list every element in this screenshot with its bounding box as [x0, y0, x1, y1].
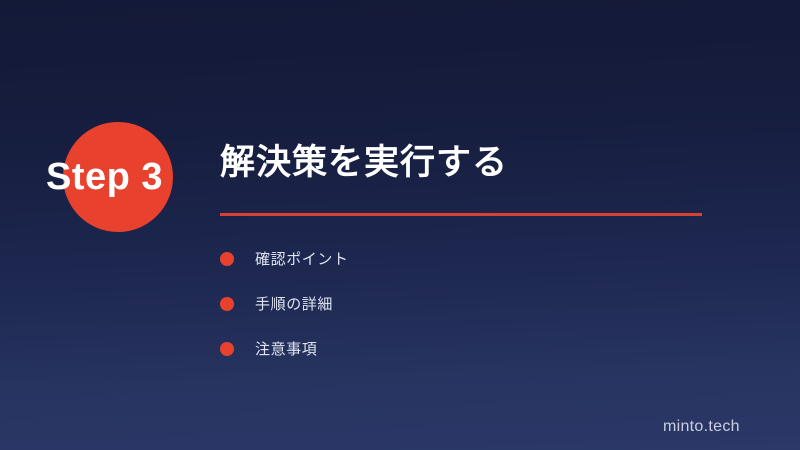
bullet-label: 手順の詳細 [255, 293, 333, 314]
title-divider [220, 213, 702, 216]
slide-title: 解決策を実行する [220, 140, 760, 186]
list-item: 注意事項 [220, 326, 760, 371]
list-item: 確認ポイント [220, 236, 760, 281]
step-badge-label: Step 3 [46, 152, 206, 202]
bullet-label: 注意事項 [255, 338, 317, 359]
slide-content: 解決策を実行する 確認ポイント 手順の詳細 注意事項 [220, 140, 760, 371]
bullet-label: 確認ポイント [255, 248, 349, 269]
slide-canvas: Step 3 解決策を実行する 確認ポイント 手順の詳細 注意事項 minto.… [0, 0, 800, 450]
bullet-dot-icon [220, 342, 234, 356]
bullet-dot-icon [220, 252, 234, 266]
bullet-dot-icon [220, 297, 234, 311]
list-item: 手順の詳細 [220, 281, 760, 326]
footer-brand: minto.tech [663, 418, 740, 436]
bullet-list: 確認ポイント 手順の詳細 注意事項 [220, 236, 760, 371]
